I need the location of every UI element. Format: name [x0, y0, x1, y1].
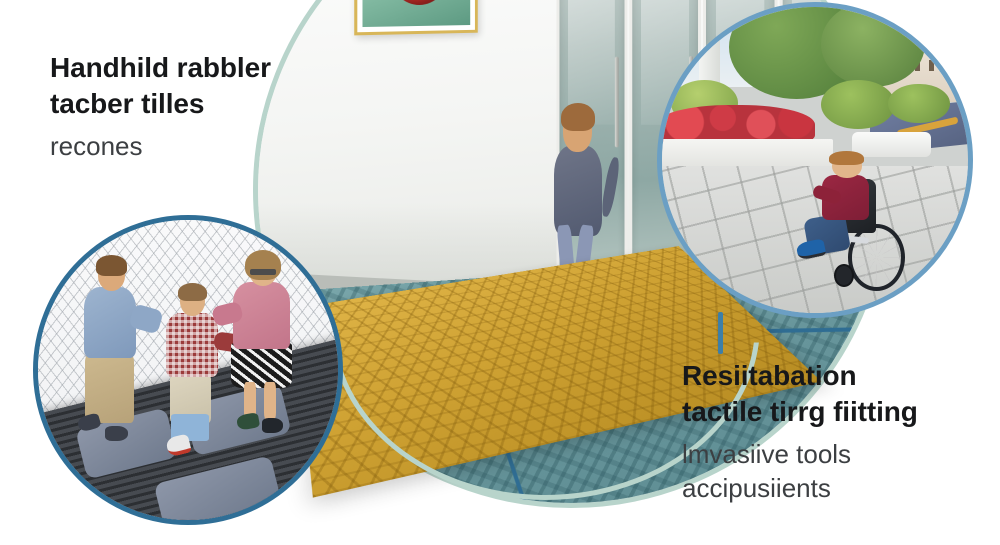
person-shoe	[105, 426, 128, 441]
top-left-headline-line1: Handhild rabbler	[50, 52, 271, 83]
poster-canvas: Handhild rabbler tacber tilles recones R…	[0, 0, 1000, 545]
person-hair	[96, 255, 128, 275]
bottom-right-subline-line2: accipusiients	[682, 473, 831, 503]
bottom-right-headline-line1: Resiitabation	[682, 360, 857, 391]
person-boy-left	[77, 259, 146, 445]
person-shoe	[236, 412, 260, 430]
tree-canopy	[821, 2, 925, 87]
person-shoe	[77, 412, 102, 432]
person-shoe	[165, 433, 192, 457]
top-left-headline-line2: tacber tilles	[50, 88, 204, 119]
top-left-subline: recones	[50, 129, 350, 163]
bottom-right-headline: Resiitabation tactile tirrg fiitting	[682, 358, 992, 431]
artwork-canvas	[363, 0, 471, 27]
bottom-right-subline: lmvasiive tools accipusiients	[682, 437, 992, 506]
green-shrub	[821, 80, 894, 129]
top-left-headline: Handhild rabbler tacber tilles	[50, 50, 350, 123]
person-shoe	[262, 418, 284, 433]
wheelchair-wheel	[848, 224, 905, 291]
child-hair	[829, 151, 864, 165]
child-in-wheelchair	[797, 154, 913, 295]
green-shrub	[888, 84, 949, 124]
left-photo-children-tactile-paving	[33, 215, 343, 525]
child-body	[554, 146, 602, 236]
door-handle-icon	[615, 57, 619, 147]
person-torso	[84, 287, 136, 358]
person-girl-right	[227, 256, 299, 442]
eyeglasses-icon	[250, 269, 276, 275]
child-hair	[561, 103, 595, 131]
callout-connector-line	[718, 312, 723, 354]
person-leg	[264, 382, 276, 419]
person-patterned-skirt	[231, 343, 291, 388]
top-left-subline-line1: recones	[50, 131, 143, 161]
person-hair	[178, 283, 207, 301]
child-shoe	[795, 238, 826, 260]
right-photo-wheelchair-plaza	[657, 2, 973, 318]
top-left-caption: Handhild rabbler tacber tilles recones	[50, 50, 350, 163]
person-checked-shirt	[166, 313, 218, 377]
framed-artwork	[354, 0, 478, 35]
bottom-right-subline-line1: lmvasiive tools	[682, 439, 851, 469]
bottom-right-caption: Resiitabation tactile tirrg fiitting lmv…	[682, 358, 992, 505]
bottom-right-headline-line2: tactile tirrg fiitting	[682, 396, 918, 427]
person-trousers	[85, 352, 133, 423]
artwork-red-sphere	[391, 0, 447, 5]
person-hair	[245, 250, 281, 280]
wheelchair-castor-wheel	[834, 264, 854, 288]
